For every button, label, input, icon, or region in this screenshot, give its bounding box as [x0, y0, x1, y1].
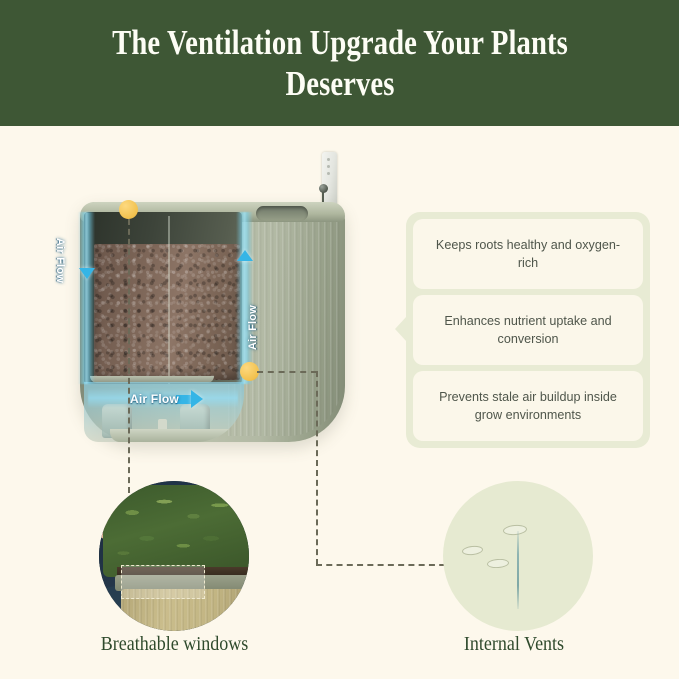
infographic-page: The Ventilation Upgrade Your Plants Dese… [0, 0, 679, 679]
vent-slot-icon [503, 524, 528, 536]
inner-basket-seam [168, 216, 170, 384]
product-cutaway-illustration: Air Flow Air Flow Air Flow [60, 150, 370, 470]
feature-card-text: Keeps roots healthy and oxygen-rich [429, 236, 627, 273]
airflow-label-right: Air Flow [247, 305, 259, 350]
feature-benefits-panel: Keeps roots healthy and oxygen-rich Enha… [406, 212, 650, 448]
detail-photo-breathable-windows [99, 481, 249, 631]
feature-card-text: Prevents stale air buildup inside grow e… [429, 388, 627, 425]
callout-marker-breathable-windows[interactable] [119, 200, 138, 219]
panel-pointer-notch [395, 316, 407, 342]
vent-slot-icon [487, 558, 510, 569]
leader-line-internal-vents-seg2 [316, 371, 318, 565]
leader-line-internal-vents-seg1 [257, 371, 317, 373]
airflow-beam-left [78, 212, 95, 384]
detail-illustration-internal-vents [443, 481, 593, 631]
feature-card-roots-healthy: Keeps roots healthy and oxygen-rich [413, 219, 643, 289]
vent-divider-line [517, 531, 519, 609]
reservoir-fill-collar [256, 206, 308, 221]
photo-highlight-region [121, 565, 205, 599]
page-title: The Ventilation Upgrade Your Plants Dese… [110, 22, 569, 105]
header-banner: The Ventilation Upgrade Your Plants Dese… [0, 0, 679, 126]
feature-card-text: Enhances nutrient uptake and conversion [429, 312, 627, 349]
soil-substrate [94, 244, 240, 380]
arrow-down-icon [79, 268, 95, 279]
caption-breathable-windows: Breathable windows [17, 633, 331, 656]
vent-slot-icon [462, 545, 484, 556]
photo-plant-foliage [103, 485, 249, 577]
arrow-right-icon [191, 390, 203, 408]
feature-card-stale-air: Prevents stale air buildup inside grow e… [413, 371, 643, 441]
caption-internal-vents: Internal Vents [366, 633, 663, 656]
airflow-beam-right [236, 212, 253, 384]
airflow-label-bottom: Air Flow [130, 392, 179, 406]
airflow-label-left: Air Flow [54, 238, 66, 283]
feature-card-nutrient-uptake: Enhances nutrient uptake and conversion [413, 295, 643, 365]
arrow-up-icon [237, 250, 253, 261]
leader-line-breathable-windows [128, 219, 130, 493]
water-gauge-float [319, 184, 328, 193]
